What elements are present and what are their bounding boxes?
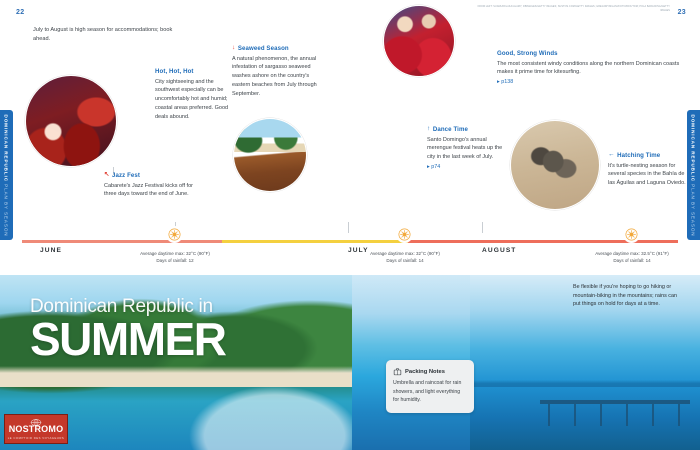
callout-heading: ↓ Seaweed Season [232,45,320,52]
timeline-stat-july: Average daytime max: 32°C (90°F) Days of… [330,250,480,265]
pier-post [548,404,550,426]
callout-body: Santo Domingo's an­nual merengue festiva… [427,136,507,162]
callout-heading-text: Seaweed Season [238,45,289,52]
callout-heading: ↑ Dance Time [427,126,507,133]
turtle-photo-image [511,121,599,209]
side-tab-subtitle: PLAN BY SEASON [691,184,696,236]
callout-heading-text: Good, Strong Winds [497,50,558,57]
sun-icon [623,226,640,243]
callout-seaweed-season: ↓ Seaweed Season A natural phenomenon, t… [232,45,320,98]
carnival-photo [383,5,455,77]
callout-heading: Good, Strong Winds [497,50,687,57]
side-tab-title: DOMINICAN REPUBLIC [4,114,9,182]
arrow-up-icon: ↑ [427,126,430,133]
sun-icon [166,226,183,243]
callout-good-strong-winds: Good, Strong Winds The most consistent w… [497,50,687,85]
packing-notes-card: Packing Notes Umbrella and raincoat for … [386,360,474,413]
callout-heading: Hot, Hot, Hot [155,68,229,75]
magazine-spread: 22 23 FROM LEFT: SUAMUIR/LAKA/ALAMY; DBI… [0,0,700,450]
timeline-stat-june: Average daytime max: 32°C (90°F) Days of… [100,250,250,265]
callout-body: The most consistent windy conditions alo… [497,60,687,78]
side-tab-right: DOMINICAN REPUBLIC PLAN BY SEASON [687,110,700,240]
callout-hatching-time: ← Hatching Time It's turtle-nesting seas… [608,152,688,188]
timeline-month-august: AUGUST [482,247,516,254]
callout-heading-text: Hatching Time [617,152,660,159]
callout-body: A natural phenomenon, the annual infesta… [232,55,320,99]
timeline-stat-august: Average daytime max: 32.5°C (91°F) Days … [557,250,700,265]
arrow-down-icon: ↓ [232,45,235,52]
photo-credits: FROM LEFT: SUAMUIR/LAKA/ALAMY; DBIMAGES/… [470,5,670,12]
jazz-photo-image [26,76,116,166]
callout-body: Cabarete's Jazz Festival kicks off for t… [104,182,196,200]
pier-post [600,404,602,426]
page-reference-text: p138 [501,79,513,85]
connector-line [482,222,483,233]
callout-hot-hot-hot: Hot, Hot, Hot City sightseeing and the s… [155,68,229,121]
callout-heading-text: Jazz Fest [112,172,140,179]
stat-temp: Average daytime max: 32°C (90°F) [100,250,250,257]
arrow-left-icon: ← [608,152,615,159]
pier-deck [540,400,690,404]
logo-name: NOSTROMO [9,425,64,434]
pier-post [652,404,654,426]
timeline-segment-june [22,240,222,243]
timeline-month-june: JUNE [40,247,62,254]
side-tab-left: DOMINICAN REPUBLIC PLAN BY SEASON [0,110,13,240]
pier-structure [540,390,690,442]
timeline-bar [22,240,678,243]
turtle-photo [510,120,600,210]
page-reference[interactable]: ▸ p138 [497,79,687,85]
pier-post [626,404,628,426]
packing-notes-heading: Packing Notes [393,367,467,376]
side-tab-subtitle: PLAN BY SEASON [4,184,9,236]
hero-kicker: Dominican Republic in [30,297,225,316]
season-timeline: JUNE JULY AUGUST [0,233,700,275]
folio-left: 22 [16,9,24,16]
page-reference-text: p74 [431,164,440,170]
logo-tagline: Le Comptoir des Voyageurs [8,436,65,440]
page-reference[interactable]: ▸ p74 [427,164,507,170]
stat-rainfall: Days of rainfall: 14 [330,257,480,264]
intro-note: July to August is high season for accomm… [33,26,173,43]
hero-note: Be flexible if you're hoping to go hikin… [573,283,683,309]
stat-temp: Average daytime max: 32°C (90°F) [330,250,480,257]
side-tab-title: DOMINICAN REPUBLIC [691,114,696,182]
callout-heading-text: Dance Time [433,126,468,133]
pier-post [574,404,576,426]
jazz-photo [25,75,117,167]
stat-rainfall: Days of rainfall: 14 [557,257,700,264]
folio-right: 23 [678,9,686,16]
suitcase-icon [393,367,402,376]
packing-notes-body: Umbrella and raincoat for rain showers, … [393,379,467,405]
timeline-segment-july [222,240,408,243]
sun-icon [396,226,413,243]
pier-post [678,404,680,426]
nostromo-logo: NOSTROMO Le Comptoir des Voyageurs [4,414,68,444]
callout-heading: ← Hatching Time [608,152,688,159]
callout-heading: ↖ Jazz Fest [104,172,196,179]
seaweed-photo [233,118,307,192]
callout-body: City sightseeing and the southwest espec… [155,78,229,122]
seaweed-photo-image [234,119,306,191]
hero-title-block: Dominican Republic in SUMMER [30,297,225,361]
carnival-photo-image [384,6,454,76]
stat-rainfall: Days of rainfall: 12 [100,257,250,264]
callout-dance-time: ↑ Dance Time Santo Domingo's an­nual mer… [427,126,507,170]
callout-jazz-fest: ↖ Jazz Fest Cabarete's Jazz Festival kic… [104,172,196,199]
packing-notes-heading-text: Packing Notes [405,369,445,375]
callout-body: It's turtle-nesting season for several s… [608,162,688,188]
callout-heading-text: Hot, Hot, Hot [155,68,194,75]
hero-season-title: SUMMER [30,317,225,361]
stat-temp: Average daytime max: 32.5°C (91°F) [557,250,700,257]
arrow-up-left-icon: ↖ [104,172,110,179]
connector-line [348,222,349,233]
